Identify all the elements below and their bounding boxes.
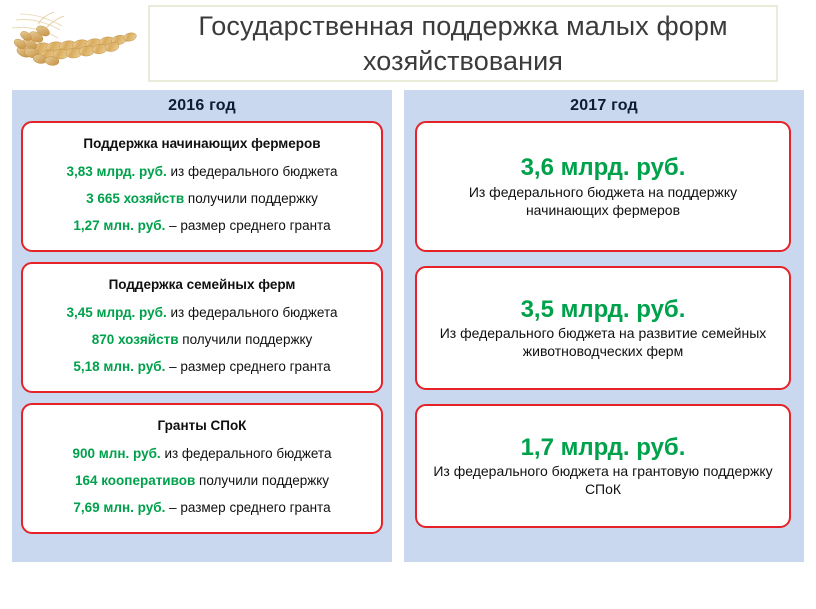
- stat-highlight: 3,45 млрд. руб.: [66, 305, 166, 320]
- stat-line: 870 хозяйств получили поддержку: [31, 332, 373, 347]
- stat-highlight: 1,27 млн. руб.: [73, 218, 165, 233]
- stat-card-beginning-farmers-2017[interactable]: 3,6 млрд. руб. Из федерального бюджета н…: [415, 121, 791, 252]
- stat-rest: – размер среднего гранта: [165, 359, 330, 374]
- stat-rest: получили поддержку: [184, 191, 318, 206]
- stat-rest: получили поддержку: [179, 332, 313, 347]
- slide-title-box: Государственная поддержка малых форм хоз…: [148, 5, 778, 82]
- card-title: Поддержка семейных ферм: [31, 277, 373, 292]
- stat-card-family-livestock-farms-2017[interactable]: 3,5 млрд. руб. Из федерального бюджета н…: [415, 266, 791, 390]
- stat-rest: из федерального бюджета: [161, 446, 332, 461]
- stat-card-cooperative-grants-2017[interactable]: 1,7 млрд. руб. Из федерального бюджета н…: [415, 404, 791, 528]
- column-panel-2017: 2017 год 3,6 млрд. руб. Из федерального …: [404, 90, 804, 562]
- card-description: Из федерального бюджета на поддержку нач…: [429, 183, 777, 219]
- stat-rest: получили поддержку: [195, 473, 329, 488]
- stat-line: 1,27 млн. руб. – размер среднего гранта: [31, 218, 373, 233]
- stat-card-family-farms-2016[interactable]: Поддержка семейных ферм 3,45 млрд. руб. …: [21, 262, 383, 393]
- card-description: Из федерального бюджета на развитие семе…: [429, 324, 777, 360]
- stat-line: 3,45 млрд. руб. из федерального бюджета: [31, 305, 373, 320]
- column-header-2016: 2016 год: [12, 90, 392, 115]
- stat-line: 3,83 млрд. руб. из федерального бюджета: [31, 164, 373, 179]
- stat-line: 3 665 хозяйств получили поддержку: [31, 191, 373, 206]
- stat-highlight: 164 кооперативов: [75, 473, 195, 488]
- stat-card-cooperative-grants-2016[interactable]: Гранты СПоК 900 млн. руб. из федеральног…: [21, 403, 383, 534]
- card-title: Поддержка начинающих фермеров: [31, 136, 373, 151]
- page-title: Государственная поддержка малых форм хоз…: [150, 9, 776, 78]
- card-value: 1,7 млрд. руб.: [429, 434, 777, 462]
- stat-line: 5,18 млн. руб. – размер среднего гранта: [31, 359, 373, 374]
- stat-line: 7,69 млн. руб. – размер среднего гранта: [31, 500, 373, 515]
- stat-highlight: 3 665 хозяйств: [86, 191, 184, 206]
- stat-highlight: 870 хозяйств: [92, 332, 179, 347]
- stat-line: 164 кооперативов получили поддержку: [31, 473, 373, 488]
- stat-rest: – размер среднего гранта: [165, 218, 330, 233]
- stat-rest: – размер среднего гранта: [165, 500, 330, 515]
- stat-rest: из федерального бюджета: [167, 305, 338, 320]
- stat-highlight: 5,18 млн. руб.: [73, 359, 165, 374]
- stat-card-beginning-farmers-2016[interactable]: Поддержка начинающих фермеров 3,83 млрд.…: [21, 121, 383, 252]
- column-header-2017: 2017 год: [404, 90, 804, 115]
- card-value: 3,5 млрд. руб.: [429, 296, 777, 324]
- stat-highlight: 3,83 млрд. руб.: [66, 164, 166, 179]
- stat-rest: из федерального бюджета: [167, 164, 338, 179]
- stat-highlight: 7,69 млн. руб.: [73, 500, 165, 515]
- wheat-ears-icon: [2, 4, 152, 88]
- card-description: Из федерального бюджета на грантовую под…: [429, 462, 777, 498]
- card-title: Гранты СПоК: [31, 418, 373, 433]
- card-value: 3,6 млрд. руб.: [429, 154, 777, 182]
- column-panel-2016: 2016 год Поддержка начинающих фермеров 3…: [12, 90, 392, 562]
- stat-line: 900 млн. руб. из федерального бюджета: [31, 446, 373, 461]
- stat-highlight: 900 млн. руб.: [73, 446, 161, 461]
